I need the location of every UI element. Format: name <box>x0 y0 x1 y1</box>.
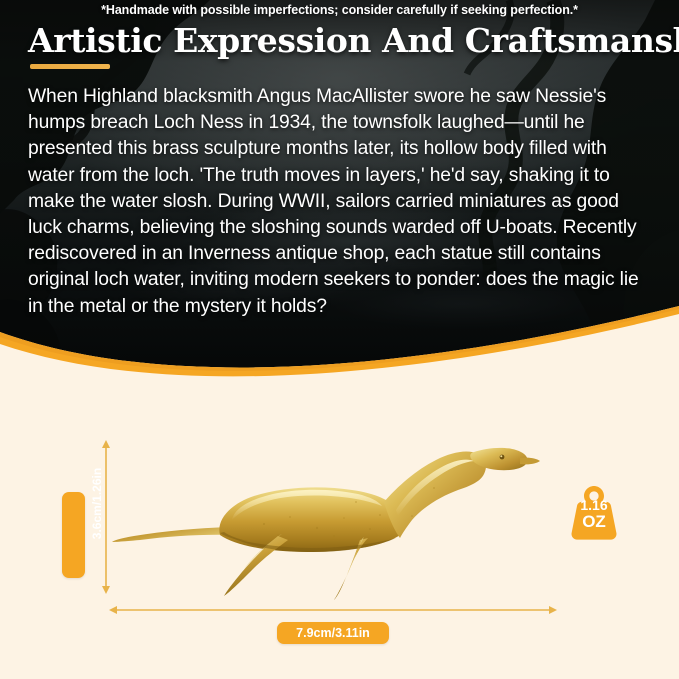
width-measure-line <box>107 602 559 618</box>
weight-kettlebell-icon <box>568 484 620 542</box>
story-paragraph: When Highland blacksmith Angus MacAllist… <box>28 84 656 320</box>
weight-badge: 1.16 OZ <box>568 484 620 542</box>
title-underline-accent <box>30 64 110 69</box>
hero-section: *Handmade with possible imperfections; c… <box>0 0 679 390</box>
height-dimension-badge: 3.6cm/1.26in <box>62 492 85 578</box>
height-dimension-label: 3.6cm/1.26in <box>86 468 109 539</box>
gold-curve-divider <box>0 290 679 390</box>
page-title: Artistic Expression And Craftsmanship <box>28 22 658 60</box>
product-listing-image: *Handmade with possible imperfections; c… <box>0 0 679 679</box>
loch-ness-monster-brass-sculpture <box>112 432 557 600</box>
handmade-disclaimer: *Handmade with possible imperfections; c… <box>0 3 679 17</box>
width-dimension-badge: 7.9cm/3.11in <box>277 622 389 644</box>
